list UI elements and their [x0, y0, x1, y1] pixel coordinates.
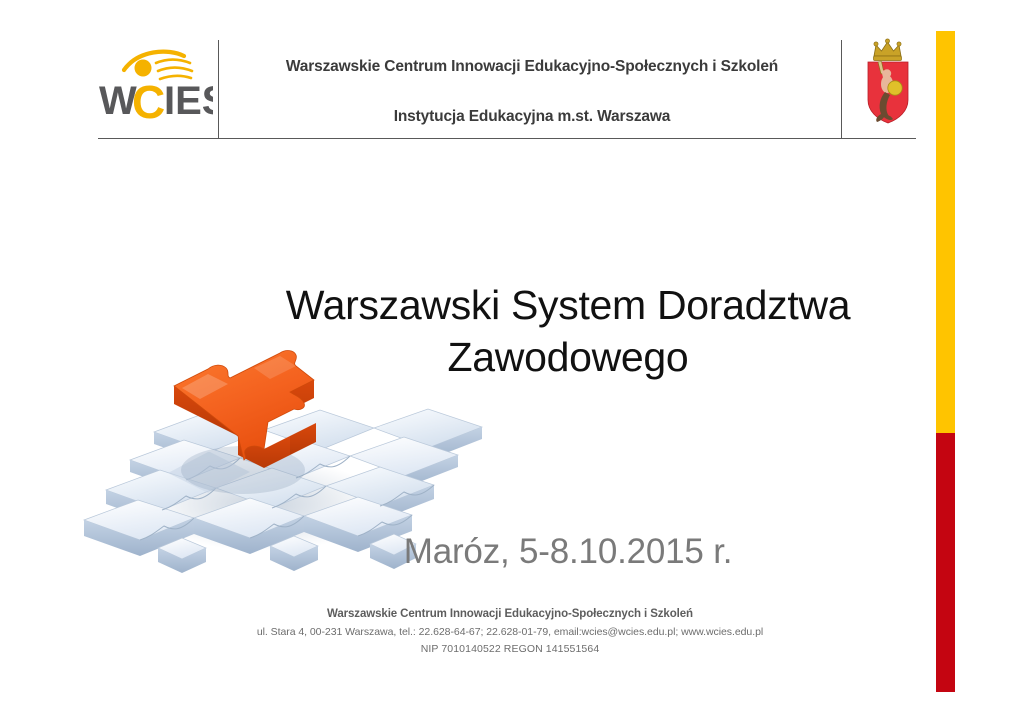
- header-horizontal-rule: [98, 138, 916, 139]
- organization-name: Warszawskie Centrum Innowacji Edukacyjno…: [286, 58, 778, 76]
- svg-text:C: C: [132, 76, 165, 124]
- presentation-slide: W C IES Warszawskie Centrum Innowacji Ed…: [0, 0, 1024, 724]
- footer-organization: Warszawskie Centrum Innowacji Edukacyjno…: [100, 608, 920, 620]
- sidebar-accent-bar-yellow: [936, 31, 955, 433]
- footer-identifiers: NIP 7010140522 REGON 141551564: [100, 643, 920, 655]
- footer-contact-details: ul. Stara 4, 00-231 Warszawa, tel.: 22.6…: [100, 626, 920, 638]
- header-divider-left: [218, 40, 219, 138]
- slide-subtitle: Maróz, 5-8.10.2015 r.: [232, 532, 904, 572]
- warsaw-coat-of-arms-icon: [862, 38, 914, 132]
- header-organization-block: Warszawskie Centrum Innowacji Edukacyjno…: [226, 46, 838, 136]
- slide-footer: Warszawskie Centrum Innowacji Edukacyjno…: [100, 608, 920, 655]
- wcies-logo: W C IES: [98, 44, 213, 124]
- jigsaw-puzzle-illustration: [58, 300, 498, 620]
- header-divider-right: [841, 40, 842, 138]
- organization-subtitle: Instytucja Edukacyjna m.st. Warszawa: [394, 108, 671, 126]
- svg-text:IES: IES: [164, 79, 213, 123]
- subtitle-location-date: Maróz, 5-8.10.2015 r.: [232, 532, 904, 572]
- sidebar-accent-bar-red: [936, 433, 955, 692]
- slide-header: W C IES Warszawskie Centrum Innowacji Ed…: [0, 0, 920, 140]
